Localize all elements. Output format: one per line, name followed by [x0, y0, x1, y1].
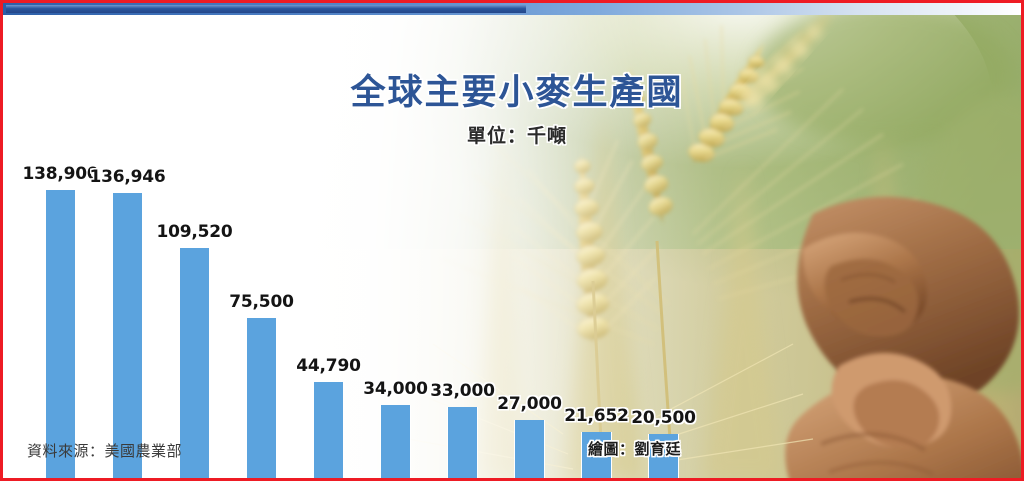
bar-value-label: 44,790 — [296, 356, 360, 376]
bar-group: 75,500俄羅斯 — [246, 85, 277, 478]
top-decorative-bar — [3, 3, 1021, 15]
bar — [112, 193, 143, 478]
bar-value-label: 27,000 — [497, 394, 561, 414]
bar — [313, 382, 344, 478]
bar — [514, 420, 545, 478]
page-subtitle: 單位：千噸 — [321, 121, 713, 148]
infographic-root: 全球主要小麥生產國 單位：千噸 138,900歐盟136,946中國109,52… — [0, 0, 1024, 481]
bar — [45, 190, 76, 478]
bar-group: 109,520印度 — [179, 85, 210, 478]
credit-note: 繪圖：劉育廷 — [588, 438, 681, 459]
bar-group: 136,946中國 — [112, 85, 143, 478]
bar-value-label: 21,652 — [564, 406, 628, 426]
bar-value-label: 136,946 — [89, 167, 165, 187]
bar-group: 138,900歐盟 — [45, 85, 76, 478]
bar-value-label: 20,500 — [631, 408, 695, 428]
bar — [380, 405, 411, 478]
top-bar-highlight — [6, 5, 526, 13]
bar-value-label: 109,520 — [156, 222, 232, 242]
bar-value-label: 34,000 — [363, 379, 427, 399]
bar — [447, 407, 478, 478]
bar-value-label: 138,900 — [22, 164, 98, 184]
bar — [246, 318, 277, 478]
bar-value-label: 75,500 — [229, 292, 293, 312]
bar-value-label: 33,000 — [430, 381, 494, 401]
bar — [179, 248, 210, 478]
source-note: 資料來源：美國農業部 — [27, 440, 182, 461]
title-block: 全球主要小麥生產國 單位：千噸 — [321, 75, 713, 148]
page-title: 全球主要小麥生產國 — [321, 75, 713, 112]
